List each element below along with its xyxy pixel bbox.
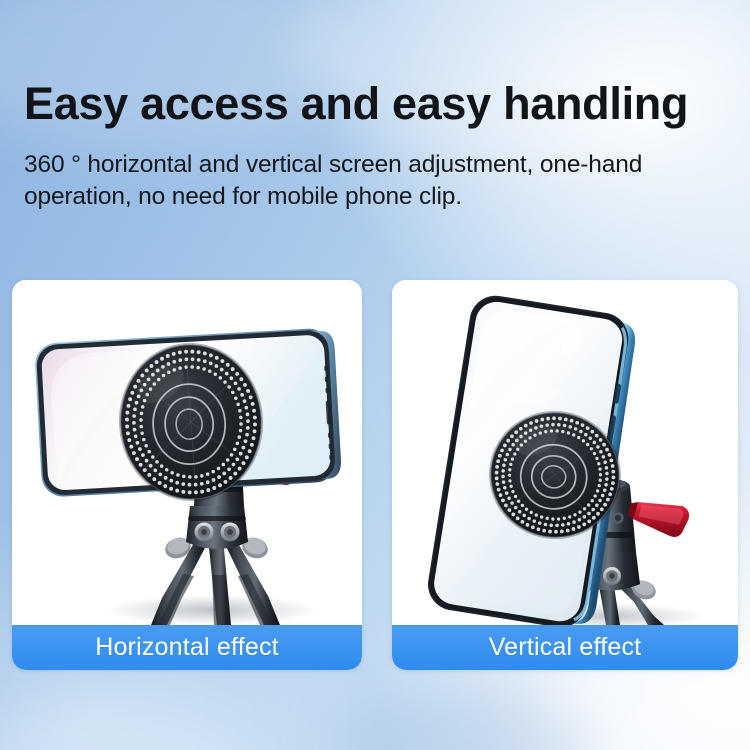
- caption-horizontal: Horizontal effect: [12, 625, 362, 670]
- photo-horizontal-mount: [12, 280, 362, 625]
- subtitle-line-1: 360 ° horizontal and vertical screen adj…: [24, 149, 724, 181]
- subtitle: 360 ° horizontal and vertical screen adj…: [24, 149, 724, 213]
- caption-vertical-label: Vertical effect: [489, 633, 642, 662]
- cloud-blob: [330, 690, 590, 750]
- photo-vertical-mount: [392, 280, 738, 625]
- horizontal-mount-illustration: [12, 280, 362, 625]
- panel-vertical-effect[interactable]: Vertical effect: [392, 280, 738, 670]
- caption-horizontal-label: Horizontal effect: [95, 633, 279, 662]
- product-feature-image: Easy access and easy handling 360 ° hori…: [0, 0, 750, 750]
- tripod-hub: [186, 506, 248, 549]
- subtitle-line-2: operation, no need for mobile phone clip…: [24, 181, 724, 213]
- cloud-blob: [0, 700, 260, 750]
- panel-horizontal-effect[interactable]: Horizontal effect: [12, 280, 362, 670]
- headline: Easy access and easy handling: [24, 78, 688, 130]
- caption-vertical: Vertical effect: [392, 625, 738, 670]
- vertical-mount-illustration: [392, 280, 738, 625]
